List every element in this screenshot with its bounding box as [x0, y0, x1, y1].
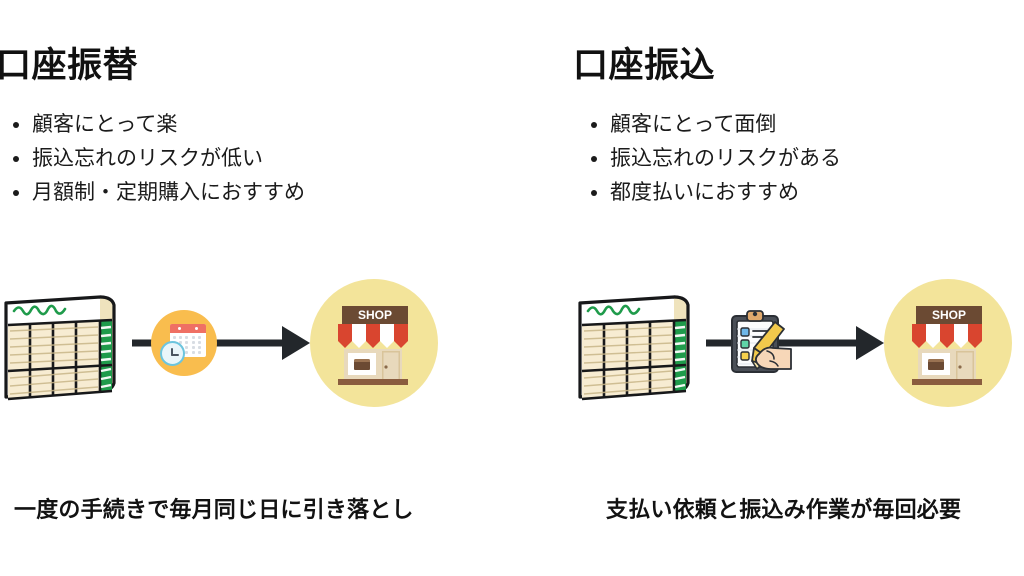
flow-diagram-furikae: SHOP — [0, 270, 470, 415]
list-item-label: 顧客にとって楽 — [32, 113, 177, 136]
list-item-label: 振込忘れのリスクが低い — [32, 147, 263, 170]
bullet-dot-icon — [591, 156, 597, 162]
calendar-clock-icon — [151, 310, 217, 376]
clock-minute-hand — [171, 354, 179, 356]
bullet-list-furikomi: 顧客にとって面倒 振込忘れのリスクがある 都度払いにおすすめ — [590, 108, 841, 210]
page-title-furikomi: 口座振込 — [573, 46, 715, 86]
bullet-dot-icon — [591, 190, 597, 196]
slide-canvas: 口座振替 顧客にとって楽 振込忘れのリスクが低い 月額制・定期購入におすすめ — [0, 0, 1024, 576]
list-item: 振込忘れのリスクがある — [590, 142, 841, 176]
bankbook-slot — [574, 279, 706, 407]
column-furikae: 口座振替 顧客にとって楽 振込忘れのリスクが低い 月額制・定期購入におすすめ — [0, 0, 512, 576]
shop-sign-text: SHOP — [932, 308, 966, 322]
page-title-furikae: 口座振替 — [0, 46, 138, 86]
calendar-header — [170, 324, 206, 333]
column-furikomi: 口座振込 顧客にとって面倒 振込忘れのリスクがある 都度払いにおすすめ — [512, 0, 1024, 576]
clipboard-pencil-icon — [723, 308, 793, 378]
shop-slot-furikae: SHOP — [310, 279, 438, 407]
list-item-label: 顧客にとって面倒 — [610, 113, 776, 136]
bankbook-slot — [0, 279, 132, 407]
list-item: 振込忘れのリスクが低い — [12, 142, 305, 176]
list-item: 都度払いにおすすめ — [590, 176, 841, 210]
calendar-clock-badge — [151, 310, 217, 376]
shop-icon: SHOP — [884, 279, 1012, 407]
caption-furikomi: 支払い依頼と振込み作業が毎回必要 — [606, 492, 961, 524]
flow-arrow-furikae — [132, 323, 310, 363]
caption-furikae: 一度の手続きで毎月同じ日に引き落とし — [14, 492, 414, 524]
calendar-ring-icon — [195, 327, 198, 330]
shop-icon: SHOP — [310, 279, 438, 407]
list-item-label: 月額制・定期購入におすすめ — [32, 181, 305, 204]
flow-diagram-furikomi: SHOP — [574, 270, 1024, 415]
bullet-list-furikae: 顧客にとって楽 振込忘れのリスクが低い 月額制・定期購入におすすめ — [12, 108, 305, 210]
bankbook-icon — [574, 279, 706, 407]
list-item-label: 振込忘れのリスクがある — [610, 147, 841, 170]
calendar-ring-icon — [178, 327, 181, 330]
clock-icon — [160, 341, 185, 366]
list-item-label: 都度払いにおすすめ — [610, 181, 799, 204]
arrow-head-icon — [856, 326, 884, 360]
bankbook-icon — [0, 279, 132, 407]
bullet-dot-icon — [13, 190, 19, 196]
clipboard-pencil-badge — [723, 308, 793, 378]
shop-slot-furikomi: SHOP — [884, 279, 1012, 407]
bullet-dot-icon — [591, 122, 597, 128]
bullet-dot-icon — [13, 122, 19, 128]
list-item: 月額制・定期購入におすすめ — [12, 176, 305, 210]
flow-arrow-furikomi — [706, 323, 884, 363]
list-item: 顧客にとって楽 — [12, 108, 305, 142]
shop-sign-text: SHOP — [358, 308, 392, 322]
list-item: 顧客にとって面倒 — [590, 108, 841, 142]
bullet-dot-icon — [13, 156, 19, 162]
arrow-head-icon — [282, 326, 310, 360]
